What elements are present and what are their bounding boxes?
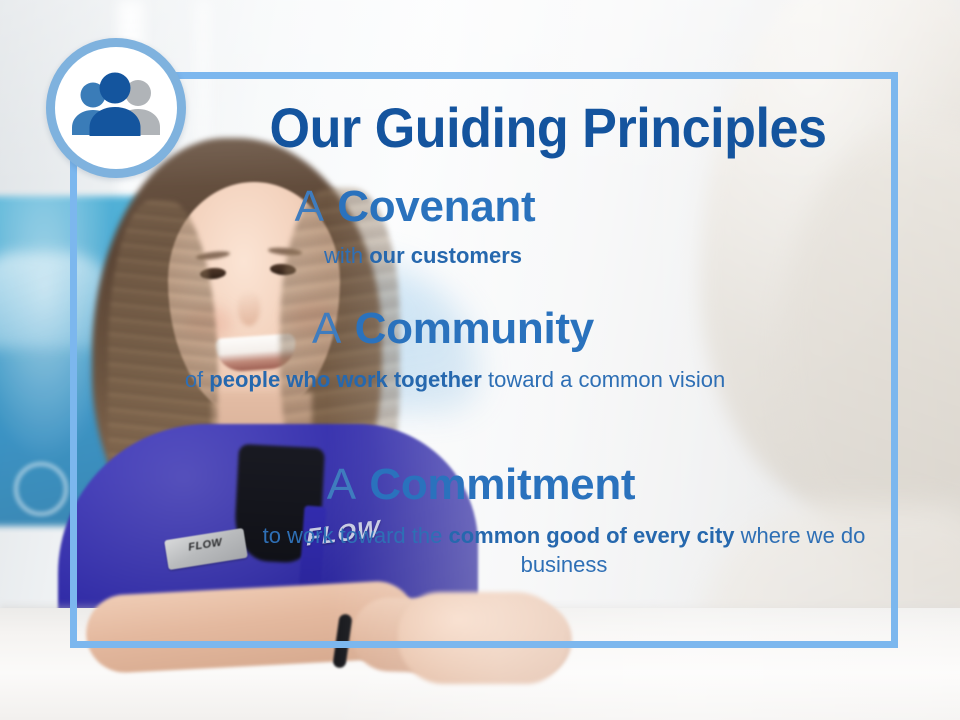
page-title: Our Guiding Principles: [241, 100, 855, 156]
subtext-pre: of: [185, 367, 209, 392]
principle-subtext: to work toward the common good of every …: [70, 521, 898, 579]
principle-subtext: with our customers: [70, 241, 898, 270]
principle-article: A: [295, 182, 325, 231]
subtext-pre: to work toward the: [263, 523, 449, 548]
principle-article: A: [327, 460, 357, 509]
people-group-icon: [64, 71, 168, 145]
subtext-emphasis: our customers: [369, 243, 522, 268]
vw-logo-graphic: [14, 462, 68, 516]
principle-heading: A Community: [70, 306, 898, 353]
guiding-principles-poster: FLOW FLOW Our Guiding Principles A Coven…: [0, 0, 960, 720]
subtext-emphasis: people who work together: [209, 367, 482, 392]
principle-article: A: [312, 304, 342, 353]
principle-covenant: A Covenant with our customers: [70, 184, 898, 270]
content-area: Our Guiding Principles A Covenant with o…: [70, 72, 898, 648]
principle-community: A Community of people who work together …: [70, 306, 898, 394]
principle-word: Commitment: [369, 460, 635, 509]
people-badge: [46, 38, 186, 178]
principle-heading: A Covenant: [70, 184, 898, 231]
principle-word: Community: [355, 304, 594, 353]
subtext-emphasis: common good of every city: [448, 523, 734, 548]
principle-commitment: A Commitment to work toward the common g…: [70, 462, 898, 579]
principle-subtext: of people who work together toward a com…: [70, 365, 898, 394]
subtext-pre: with: [324, 243, 369, 268]
subtext-post: toward a common vision: [482, 367, 725, 392]
principle-word: Covenant: [337, 182, 535, 231]
principle-heading: A Commitment: [70, 462, 898, 509]
